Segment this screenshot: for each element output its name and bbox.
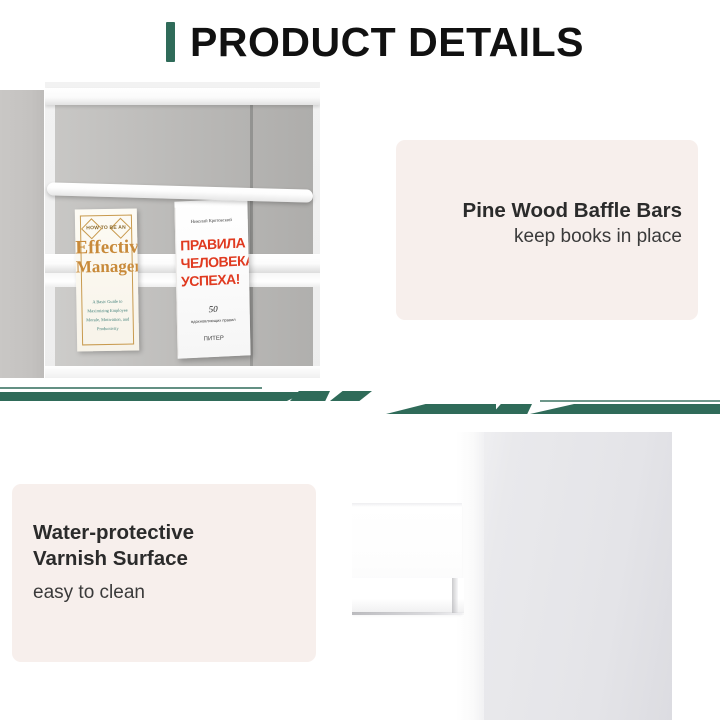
- feature-subtitle: easy to clean: [33, 580, 194, 606]
- book-kicker-text: HOW TO BE AN: [75, 224, 137, 231]
- varnish-panel-notch: [352, 503, 462, 507]
- feature-title: Pine Wood Baffle Bars: [463, 198, 682, 224]
- book-subtitle: вдохновляющих правил: [177, 316, 250, 324]
- divider-left-bar: [0, 392, 284, 401]
- section-divider: [0, 378, 720, 426]
- shelf-back-divider-lower: [250, 287, 253, 378]
- bookshelf-photo: HOW TO BE AN Effective Manager A Basic G…: [0, 82, 362, 378]
- page-header: PRODUCT DETAILS: [0, 0, 720, 80]
- book-title-line2: ЧЕЛОВЕКА: [181, 252, 245, 271]
- varnish-surface-photo: [352, 420, 720, 720]
- book-title-line3: УСПЕХА!: [181, 270, 245, 289]
- varnish-shadow-line: [352, 612, 464, 615]
- book-title-line1: ПРАВИЛА: [180, 234, 244, 253]
- shelf-rail-top: [45, 88, 320, 105]
- feature-subtitle: keep books in place: [463, 224, 682, 250]
- feature-title-line1: Water-protective: [33, 520, 194, 546]
- book-number: 50: [177, 302, 250, 315]
- shelf-rail-bottom: [45, 366, 320, 378]
- divider-left-thin-line: [0, 387, 262, 389]
- varnish-inner-edge: [452, 578, 458, 613]
- book-subtitle: A Basic Guide to Maximizing Employee Mor…: [83, 297, 132, 334]
- feature-title-line2: Varnish Surface: [33, 546, 194, 572]
- page-title: PRODUCT DETAILS: [190, 16, 584, 68]
- book-effective-manager: HOW TO BE AN Effective Manager A Basic G…: [75, 208, 139, 351]
- divider-right-bar: [530, 404, 720, 414]
- varnish-main-panel: [456, 432, 672, 720]
- feature-text-block: Water-protective Varnish Surface easy to…: [33, 520, 194, 606]
- varnish-shelf-board: [352, 578, 464, 613]
- divider-right-start: [386, 404, 496, 414]
- feature-card-baffle-bars: Pine Wood Baffle Bars keep books in plac…: [396, 140, 698, 320]
- shelf-back-divider-upper: [250, 102, 253, 262]
- title-accent-bar: [166, 22, 175, 62]
- feature-text-block: Pine Wood Baffle Bars keep books in plac…: [463, 198, 682, 250]
- shelf-side-panel-left: [0, 90, 44, 378]
- divider-left-end: [330, 391, 372, 401]
- divider-right-thin-line: [540, 400, 720, 402]
- product-details-page: PRODUCT DETAILS HOW TO BE AN Effective M…: [0, 0, 720, 720]
- book-author: Николай Кротовский: [175, 215, 248, 225]
- book-russian-success-rules: Николай Кротовский ПРАВИЛА ЧЕЛОВЕКА УСПЕ…: [174, 198, 250, 358]
- book-title-line2: Manager: [76, 256, 138, 277]
- feature-card-varnish-surface: Water-protective Varnish Surface easy to…: [12, 484, 316, 662]
- book-publisher: ПИТЕР: [177, 334, 250, 343]
